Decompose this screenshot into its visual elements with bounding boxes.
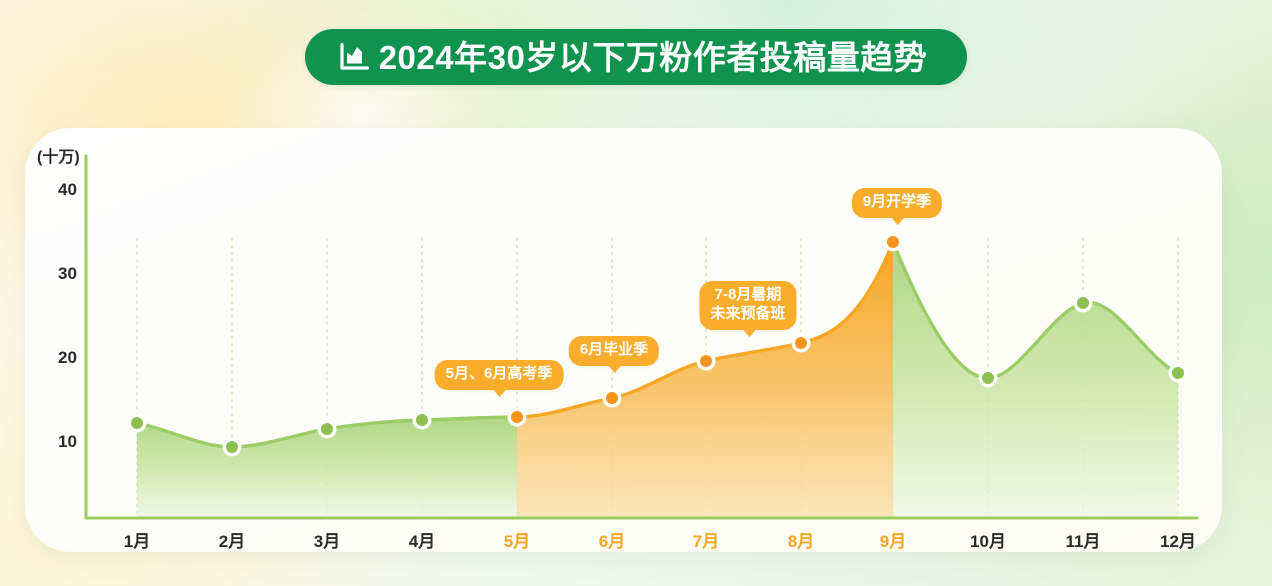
x-tick-label-jun: 6月 [599,533,625,550]
x-tick-label-aug: 8月 [788,533,814,550]
y-tick-label-20: 20 [58,349,77,366]
page-title: 2024年30岁以下万粉作者投稿量趋势 [379,41,928,74]
annotation-graduation-season: 6月毕业季 [569,336,659,366]
annotation-summer-prep-line1: 7-8月暑期 [710,286,785,305]
x-tick-label-jul: 7月 [693,533,719,550]
title-pill: 2024年30岁以下万粉作者投稿量趋势 [305,29,968,85]
x-tick-label-may: 5月 [504,533,530,550]
y-tick-label-40: 40 [58,181,77,198]
annotation-gaokao-season: 5月、6月高考季 [435,360,564,390]
title-bar: 2024年30岁以下万粉作者投稿量趋势 [0,29,1272,85]
x-tick-label-oct: 10月 [970,533,1006,550]
x-tick-label-apr: 4月 [409,533,435,550]
annotation-school-start-season: 9月开学季 [852,188,942,218]
y-axis-unit-label: (十万) [37,150,80,166]
x-tick-label-feb: 2月 [219,533,245,550]
x-tick-label-jan: 1月 [124,533,150,550]
x-tick-label-dec: 12月 [1160,533,1196,550]
x-tick-label-mar: 3月 [314,533,340,550]
x-tick-label-sep: 9月 [880,533,906,550]
annotation-summer-prep-class: 7-8月暑期 未来预备班 [699,281,796,330]
y-tick-label-30: 30 [58,265,77,282]
chart-card: (十万) 40 30 20 10 1月 2月 3月 4月 5月 6月 7月 8月… [25,128,1222,552]
annotation-summer-prep-line2: 未来预备班 [710,305,785,324]
y-tick-label-10: 10 [58,433,77,450]
x-tick-label-nov: 11月 [1066,533,1101,550]
bar-chart-icon [339,43,369,71]
